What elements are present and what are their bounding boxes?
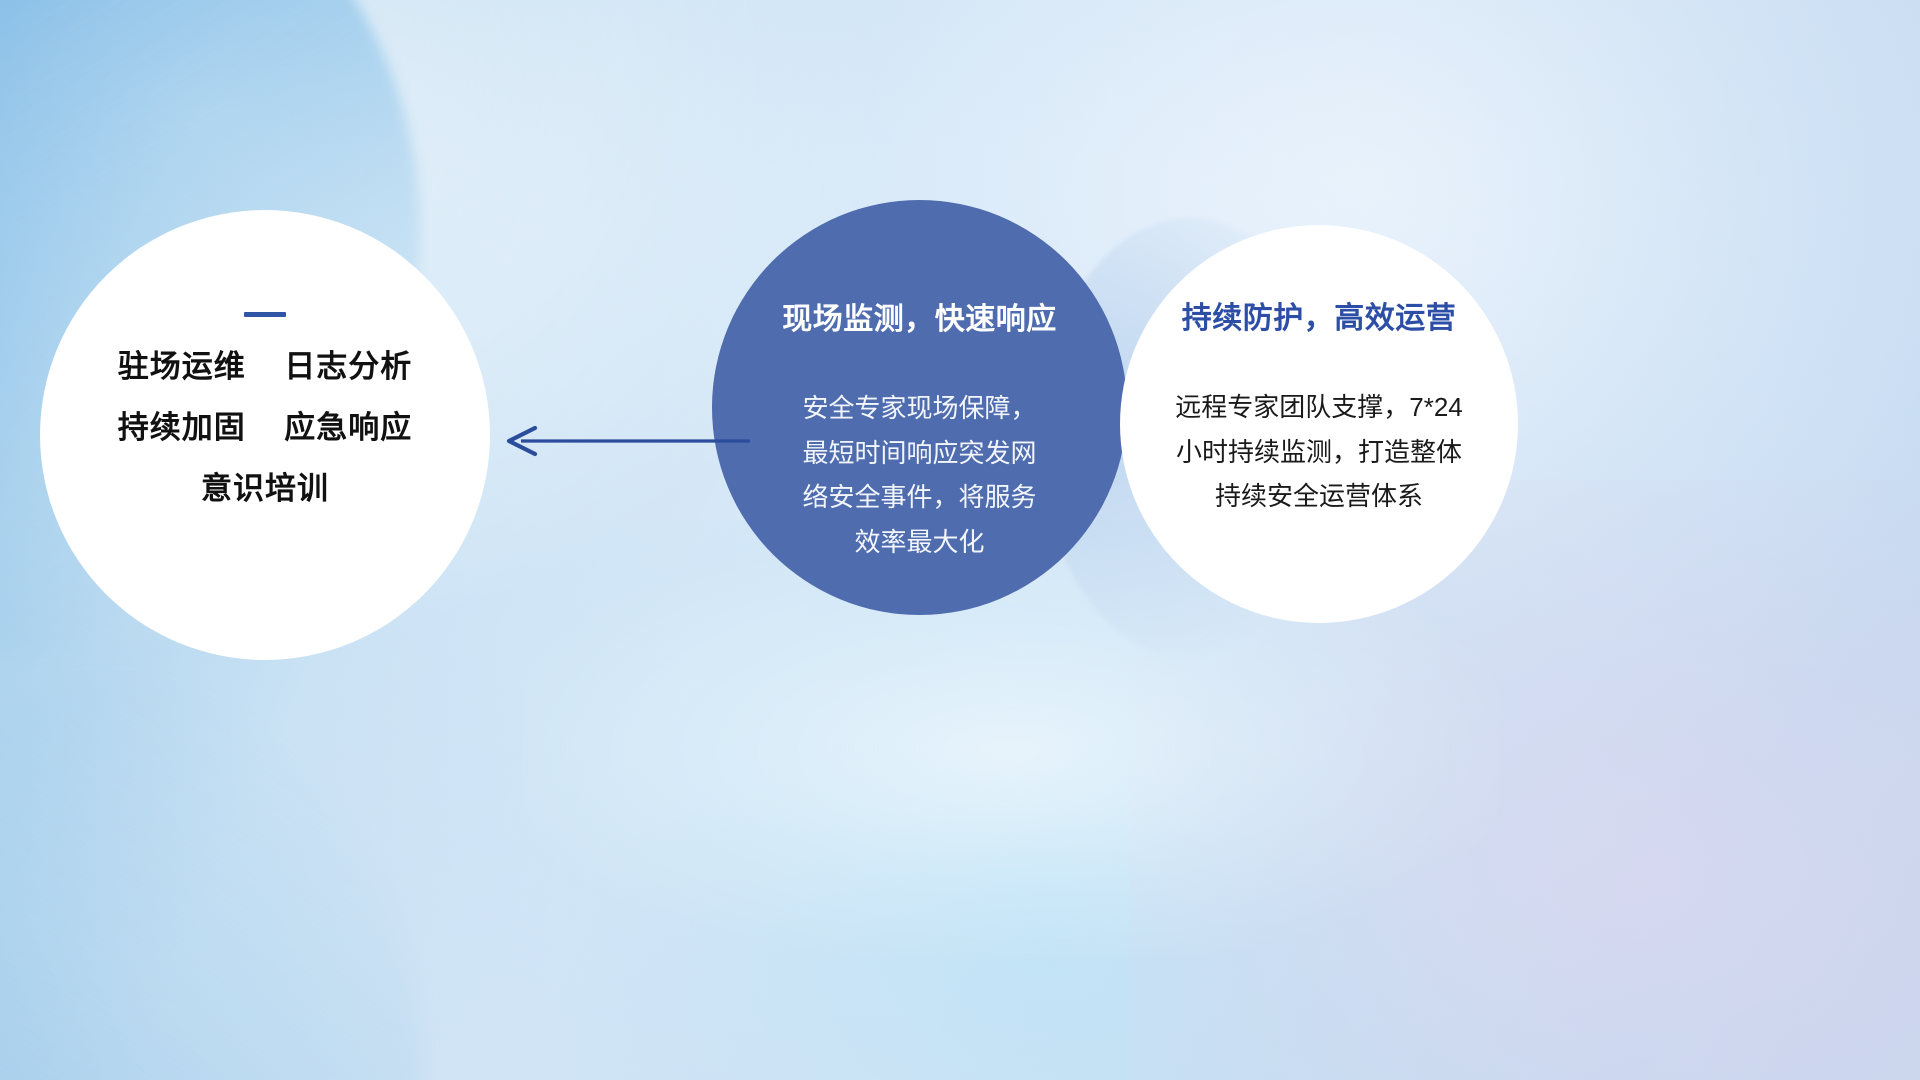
body-line: 安全专家现场保障，: [770, 386, 1070, 431]
body-line: 络安全事件，将服务: [770, 475, 1070, 520]
list-item: 意识培训: [118, 473, 412, 504]
right-circle-body: 远程专家团队支撑，7*24 小时持续监测，打造整体 持续安全运营体系: [1141, 385, 1497, 519]
left-circle-keyword-list: 驻场运维 日志分析 持续加固 应急响应 意识培训: [118, 351, 412, 504]
list-item: 持续加固 应急响应: [118, 412, 412, 443]
mid-onsite-monitoring-circle[interactable]: 现场监测，快速响应 安全专家现场保障， 最短时间响应突发网 络安全事件，将服务 …: [712, 200, 1127, 615]
left-capability-circle[interactable]: 驻场运维 日志分析 持续加固 应急响应 意识培训: [40, 210, 490, 660]
arrow-left-icon: [495, 415, 755, 467]
body-line: 持续安全运营体系: [1141, 474, 1497, 519]
list-item: 驻场运维 日志分析: [118, 351, 412, 382]
body-line: 远程专家团队支撑，7*24: [1141, 385, 1497, 430]
slide-canvas: 驻场运维 日志分析 持续加固 应急响应 意识培训 现场监测，快速响应 安全专家现…: [0, 0, 1920, 1080]
right-continuous-protection-circle[interactable]: 持续防护，高效运营 远程专家团队支撑，7*24 小时持续监测，打造整体 持续安全…: [1120, 225, 1518, 623]
body-line: 最短时间响应突发网: [770, 431, 1070, 476]
mid-circle-body: 安全专家现场保障， 最短时间响应突发网 络安全事件，将服务 效率最大化: [770, 386, 1070, 565]
right-circle-title: 持续防护，高效运营: [1182, 293, 1457, 337]
body-line: 小时持续监测，打造整体: [1141, 430, 1497, 475]
body-line: 效率最大化: [770, 520, 1070, 565]
accent-dash-icon: [244, 312, 286, 317]
mid-circle-title: 现场监测，快速响应: [782, 294, 1057, 338]
